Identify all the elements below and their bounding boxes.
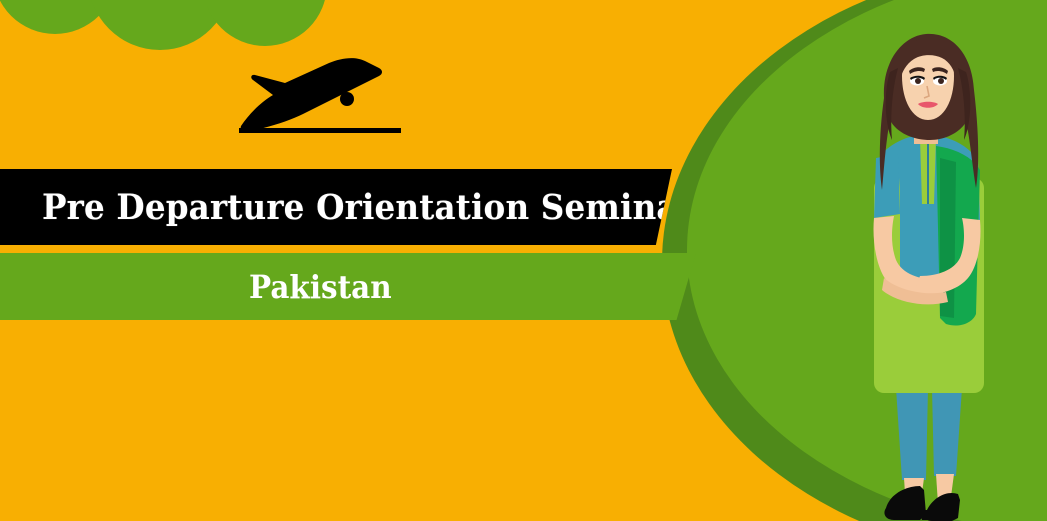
woman-illustration — [828, 28, 1047, 521]
sleeve-left — [874, 154, 900, 218]
trouser-left — [896, 388, 928, 480]
trouser-right — [932, 388, 962, 476]
shoe-right — [925, 493, 960, 521]
runway-line — [239, 128, 401, 133]
shoe-left — [884, 486, 926, 520]
poster-canvas: Pre Departure Orientation Seminar Pakist… — [0, 0, 1047, 521]
subtitle-text: Pakistan — [249, 268, 392, 306]
page-title: Pre Departure Orientation Seminar — [42, 187, 695, 228]
pupil-left — [915, 78, 921, 84]
pupil-right — [938, 78, 944, 84]
collar-line — [927, 138, 929, 204]
title-banner: Pre Departure Orientation Seminar — [0, 169, 672, 245]
subtitle-band: Pakistan — [0, 253, 696, 320]
